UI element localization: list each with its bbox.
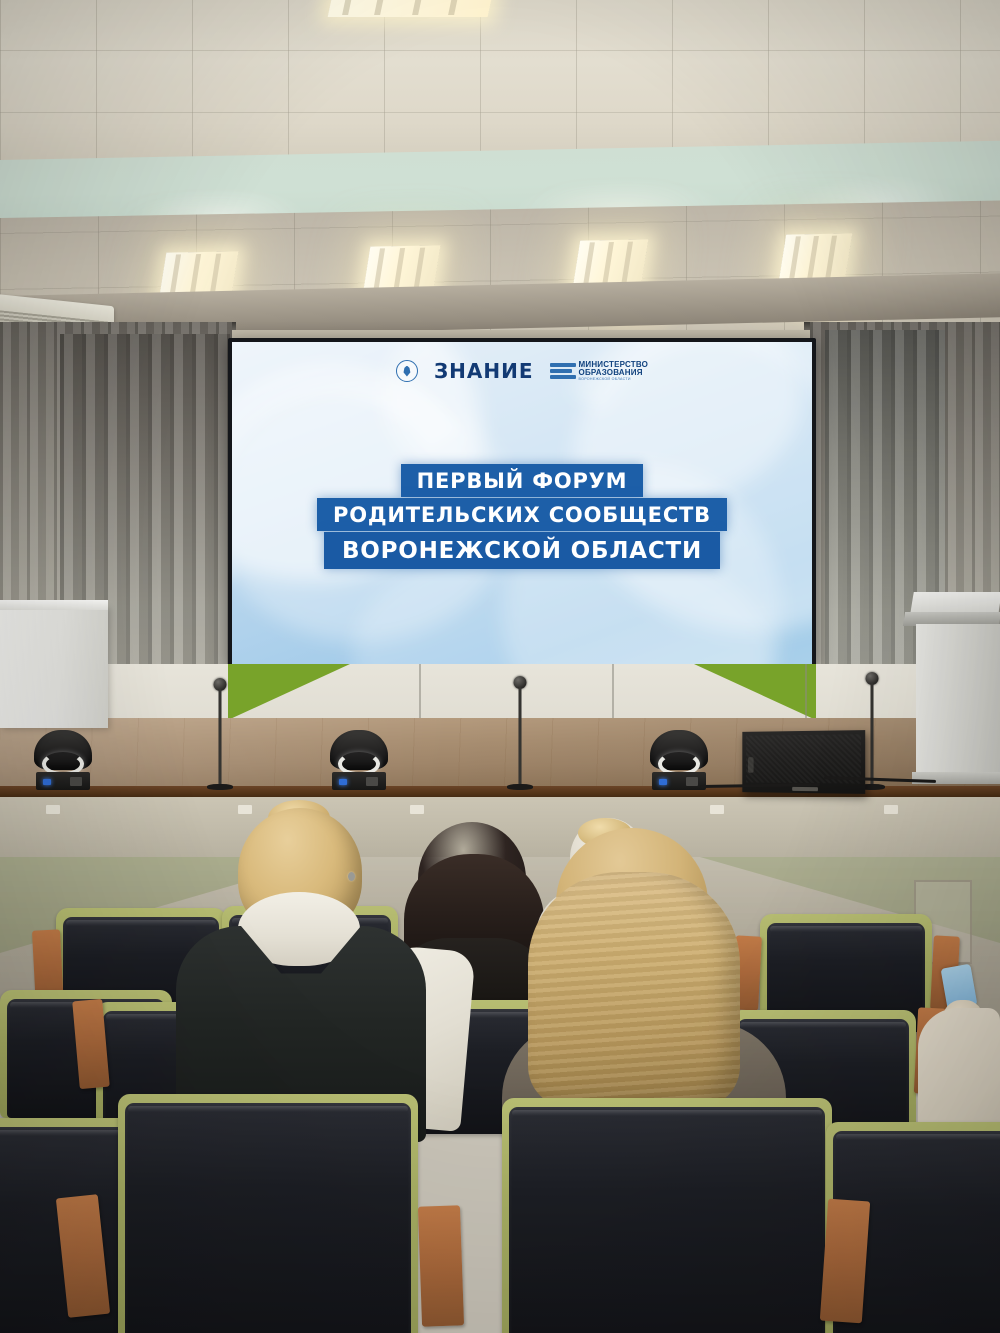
apron-marker bbox=[410, 805, 424, 814]
person-blonde-long-hair bbox=[528, 872, 740, 1108]
presentation-screen: ЗНАНИЕ МИНИСТЕРСТВО ОБРАЗОВАНИЯ ВОРОНЕЖС… bbox=[232, 342, 812, 664]
microphone-pole bbox=[871, 683, 874, 784]
light-display bbox=[686, 777, 698, 786]
apron-marker bbox=[46, 805, 60, 814]
znanie-emblem-icon bbox=[396, 360, 418, 382]
seat-armrest bbox=[418, 1205, 464, 1326]
microphone-pole bbox=[219, 689, 222, 784]
apron-marker bbox=[710, 805, 724, 814]
ministry-logo: МИНИСТЕРСТВО ОБРАЗОВАНИЯ ВОРОНЕЖСКОЙ ОБЛ… bbox=[550, 361, 649, 382]
microphone-base bbox=[507, 784, 533, 790]
podium-left bbox=[0, 606, 108, 728]
slide-title-line-1: ПЕРВЫЙ ФОРУМ bbox=[401, 464, 644, 497]
apron-marker bbox=[238, 805, 252, 814]
light-display bbox=[70, 777, 82, 786]
speaker-badge bbox=[792, 787, 818, 791]
ministry-mark-icon bbox=[550, 362, 576, 379]
speaker-handle bbox=[748, 757, 754, 773]
lectern-body bbox=[916, 624, 1000, 772]
earring bbox=[348, 872, 355, 881]
seat bbox=[502, 1098, 832, 1333]
microphone-pole bbox=[519, 687, 522, 784]
light-base bbox=[652, 772, 705, 790]
microphone-base bbox=[207, 784, 233, 790]
light-led-indicator bbox=[43, 779, 51, 785]
light-base bbox=[332, 772, 385, 790]
moving-head-light-1 bbox=[34, 730, 92, 790]
slide-logo-row: ЗНАНИЕ МИНИСТЕРСТВО ОБРАЗОВАНИЯ ВОРОНЕЖС… bbox=[232, 359, 812, 383]
light-led-indicator bbox=[659, 779, 667, 785]
lectern-right bbox=[898, 592, 1000, 790]
light-display bbox=[366, 777, 378, 786]
slide-title-line-3: ВОРОНЕЖСКОЙ ОБЛАСТИ bbox=[324, 532, 720, 569]
moving-head-light-2 bbox=[330, 730, 388, 790]
slide-title-block: ПЕРВЫЙ ФОРУМ РОДИТЕЛЬСКИХ СООБЩЕСТВ ВОРО… bbox=[232, 464, 812, 569]
presentation-screen-frame: ЗНАНИЕ МИНИСТЕРСТВО ОБРАЗОВАНИЯ ВОРОНЕЖС… bbox=[228, 338, 816, 668]
lectern-top bbox=[910, 592, 1000, 614]
ceiling-light-fixture-top bbox=[328, 0, 493, 17]
microphone-stand-2 bbox=[506, 676, 534, 790]
podium-left-top bbox=[0, 600, 108, 610]
ministry-line-3: ВОРОНЕЖСКОЙ ОБЛАСТИ bbox=[579, 378, 649, 382]
light-led-indicator bbox=[339, 779, 347, 785]
moving-head-light-3 bbox=[650, 730, 708, 790]
seat bbox=[118, 1094, 418, 1333]
seat-armrest bbox=[820, 1199, 870, 1324]
slide-title-line-2: РОДИТЕЛЬСКИХ СООБЩЕСТВ bbox=[317, 498, 727, 531]
light-base bbox=[36, 772, 89, 790]
auditorium-photo: ЗНАНИЕ МИНИСТЕРСТВО ОБРАЗОВАНИЯ ВОРОНЕЖС… bbox=[0, 0, 1000, 1333]
microphone-stand-1 bbox=[206, 678, 234, 790]
apron-marker bbox=[884, 805, 898, 814]
znanie-logo-text: ЗНАНИЕ bbox=[434, 359, 534, 383]
ministry-logo-text: МИНИСТЕРСТВО ОБРАЗОВАНИЯ ВОРОНЕЖСКОЙ ОБЛ… bbox=[579, 361, 649, 382]
